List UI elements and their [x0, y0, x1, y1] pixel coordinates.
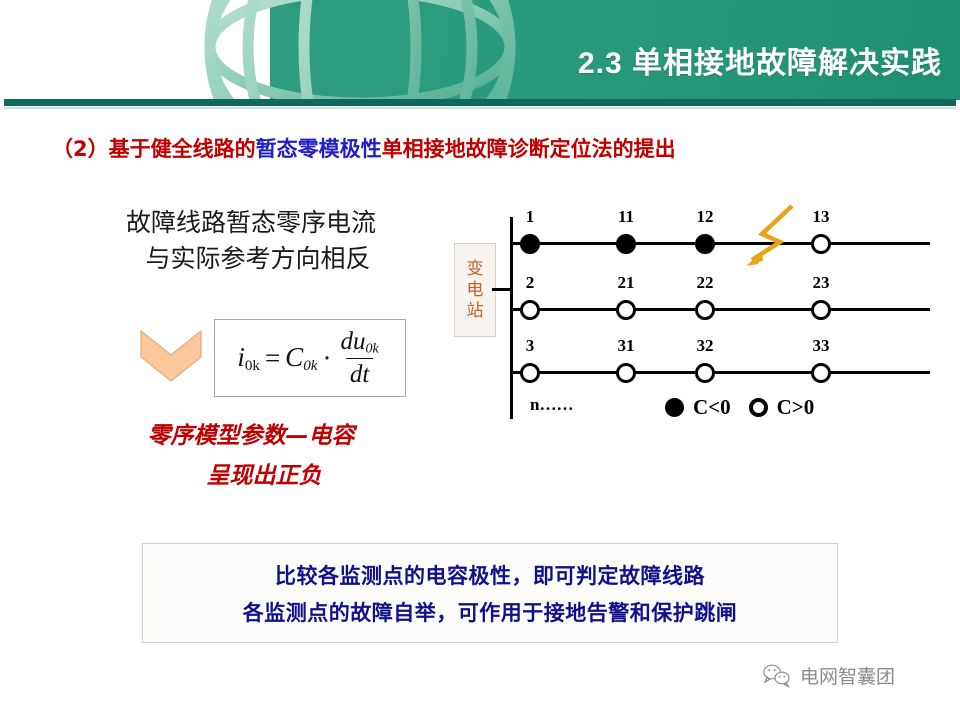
busbar	[510, 217, 513, 419]
substation-label: 变 电 站	[454, 243, 496, 337]
formula-fraction-numerator: du0k	[336, 329, 382, 359]
feeder-line-3	[510, 371, 930, 374]
node-label-1: 1	[513, 207, 547, 227]
globe-graphic	[180, 0, 540, 100]
substation-char-3: 站	[467, 301, 484, 321]
node-label-13: 13	[804, 207, 838, 227]
formula-multiply-dot: ·	[322, 343, 331, 374]
feeder-line-2	[510, 308, 930, 311]
lead-statement-line-1: 故障线路暂态零序电流	[126, 210, 376, 237]
formula-capacitance: C	[285, 342, 303, 372]
emphasis-line-1: 零序模型参数—电容	[148, 423, 355, 449]
substation-char-1: 变	[467, 259, 484, 279]
lead-statement: 故障线路暂态零序电流 与实际参考方向相反	[86, 206, 416, 277]
down-chevron-icon	[139, 327, 203, 383]
node-12[interactable]	[695, 234, 715, 254]
node-1[interactable]	[520, 234, 540, 254]
emphasis-statement: 零序模型参数—电容 呈现出正负	[86, 416, 416, 497]
node-label-22: 22	[688, 273, 722, 293]
feeder-line-1	[510, 242, 930, 245]
legend-item-positive: C>0	[749, 395, 815, 420]
legend-hollow-circle-icon	[749, 398, 768, 417]
node-label-21: 21	[609, 273, 643, 293]
lead-statement-line-2: 与实际参考方向相反	[86, 242, 416, 278]
watermark: 电网智囊团	[762, 662, 895, 689]
node-label-32: 32	[688, 336, 722, 356]
fault-lightning-icon	[736, 200, 800, 268]
more-feeders-label: n……	[530, 395, 573, 415]
slide-root: 2.3 单相接地故障解决实践 （2）基于健全线路的暂态零模极性单相接地故障诊断定…	[0, 0, 960, 720]
page-title: 2.3 单相接地故障解决实践	[578, 38, 942, 82]
node-32[interactable]	[695, 363, 715, 383]
conclusion-box: 比较各监测点的电容极性，即可判定故障线路 各监测点的故障自举，可作用于接地告警和…	[142, 543, 838, 643]
conclusion-line-2: 各监测点的故障自举，可作用于接地告警和保护跳闸	[243, 597, 738, 627]
node-label-3: 3	[513, 336, 547, 356]
formula-box: i0k = C0k · du0k dt	[214, 319, 406, 397]
node-31[interactable]	[616, 363, 636, 383]
section-subtitle: （2）基于健全线路的暂态零模极性单相接地故障诊断定位法的提出	[52, 133, 676, 163]
wechat-icon	[762, 663, 792, 689]
node-label-23: 23	[804, 273, 838, 293]
zero-sequence-current-formula: i0k = C0k · du0k dt	[237, 329, 382, 388]
network-diagram: 变 电 站 1 11 12 13 2 21 22 23	[440, 195, 940, 460]
substation-char-2: 电	[467, 280, 484, 300]
diagram-legend: C<0 C>0	[665, 395, 814, 420]
node-label-33: 33	[804, 336, 838, 356]
node-13[interactable]	[811, 234, 831, 254]
slide-header: 2.3 单相接地故障解决实践	[0, 0, 960, 100]
subtitle-part-3: 单相接地故障诊断定位法的提出	[382, 137, 676, 161]
node-label-11: 11	[609, 207, 643, 227]
emphasis-line-2: 呈现出正负	[86, 456, 416, 496]
watermark-label: 电网智囊团	[800, 662, 895, 689]
conclusion-line-1: 比较各监测点的电容极性，即可判定故障线路	[275, 560, 705, 590]
formula-capacitance-sub: 0k	[303, 357, 317, 373]
substation-connector	[492, 288, 512, 291]
node-label-12: 12	[688, 207, 722, 227]
formula-fraction-denominator: dt	[346, 358, 373, 387]
node-label-31: 31	[609, 336, 643, 356]
formula-num-text: du	[340, 328, 365, 355]
node-21[interactable]	[616, 300, 636, 320]
node-3[interactable]	[520, 363, 540, 383]
formula-lhs-sub: 0k	[245, 357, 260, 373]
legend-label-positive: C>0	[777, 395, 815, 420]
node-11[interactable]	[616, 234, 636, 254]
legend-label-negative: C<0	[693, 395, 731, 420]
subtitle-part-2: 暂态零模极性	[256, 137, 382, 161]
formula-equals: =	[265, 343, 280, 374]
formula-derivative-fraction: du0k dt	[336, 329, 382, 388]
formula-lhs: i	[237, 342, 245, 372]
header-divider	[4, 99, 956, 106]
legend-item-negative: C<0	[665, 395, 731, 420]
legend-filled-circle-icon	[665, 398, 684, 417]
node-23[interactable]	[811, 300, 831, 320]
node-33[interactable]	[811, 363, 831, 383]
node-2[interactable]	[520, 300, 540, 320]
header-divider-thin	[4, 107, 956, 109]
subtitle-part-1: （2）基于健全线路的	[52, 137, 256, 161]
formula-num-sub: 0k	[365, 341, 378, 356]
node-22[interactable]	[695, 300, 715, 320]
node-label-2: 2	[513, 273, 547, 293]
